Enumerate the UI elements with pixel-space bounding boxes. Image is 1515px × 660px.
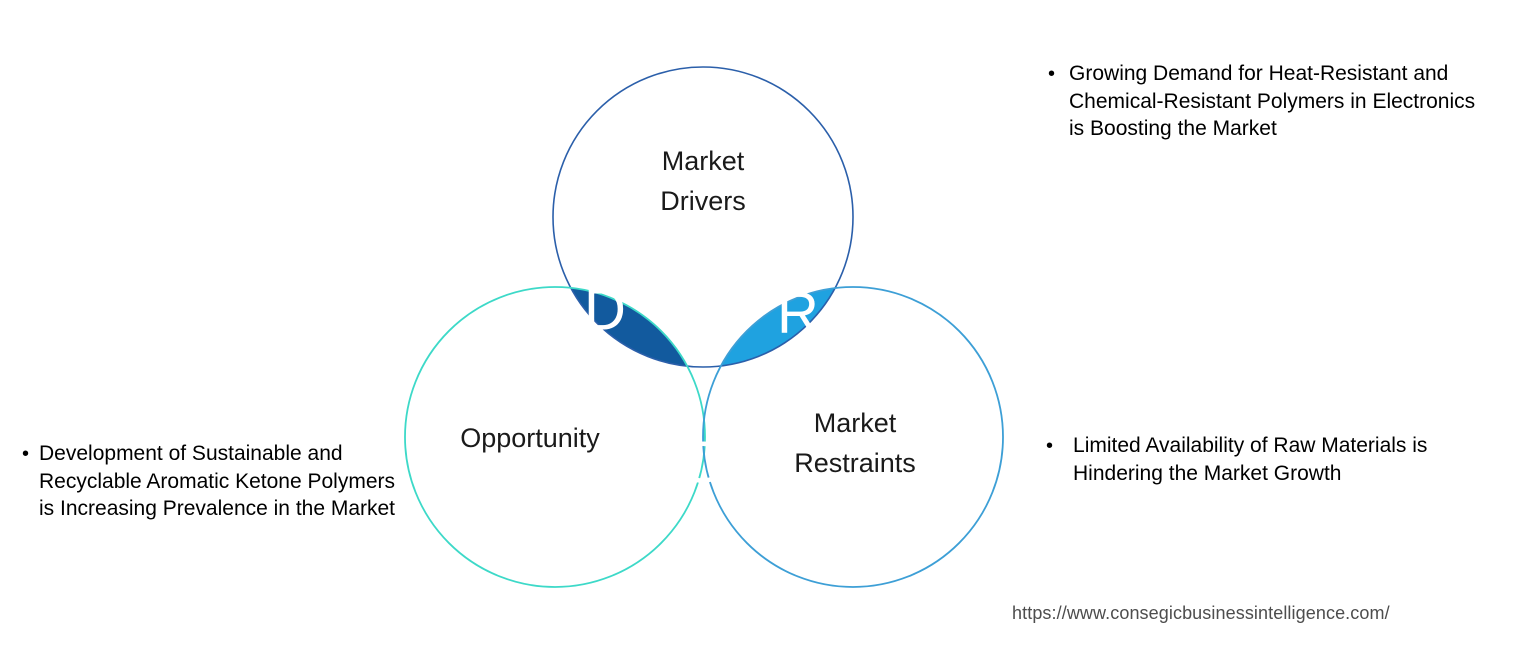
bullet-icon: • bbox=[1046, 436, 1053, 456]
venn-letter-o: O bbox=[680, 431, 725, 496]
venn-letter-d: D bbox=[584, 278, 626, 343]
venn-letter-r: R bbox=[777, 281, 819, 346]
venn-label-opportunity: Opportunity bbox=[460, 423, 600, 453]
diagram-canvas: D R O Market Drivers Opportunity Market … bbox=[0, 0, 1515, 660]
venn-diagram: D R O Market Drivers Opportunity Market … bbox=[390, 45, 1030, 615]
venn-label-drivers-line1: Market bbox=[662, 146, 745, 176]
callout-market-driver: • Growing Demand for Heat-Resistant and … bbox=[1048, 60, 1488, 143]
venn-label-restraints-line1: Market bbox=[814, 408, 897, 438]
bullet-icon: • bbox=[22, 444, 29, 464]
venn-label-drivers-line2: Drivers bbox=[660, 186, 746, 216]
callout-market-opportunity: • Development of Sustainable and Recycla… bbox=[22, 440, 412, 523]
bullet-icon: • bbox=[1048, 64, 1055, 84]
callout-restraint-text: Limited Availability of Raw Materials is… bbox=[1071, 432, 1491, 487]
callout-market-restraint: • Limited Availability of Raw Materials … bbox=[1046, 432, 1491, 487]
venn-label-restraints-line2: Restraints bbox=[794, 448, 916, 478]
source-url[interactable]: https://www.consegicbusinessintelligence… bbox=[1012, 603, 1390, 624]
callout-driver-text: Growing Demand for Heat-Resistant and Ch… bbox=[1069, 60, 1488, 143]
callout-opportunity-text: Development of Sustainable and Recyclabl… bbox=[39, 440, 412, 523]
venn-svg: D R O Market Drivers Opportunity Market … bbox=[390, 45, 1030, 615]
